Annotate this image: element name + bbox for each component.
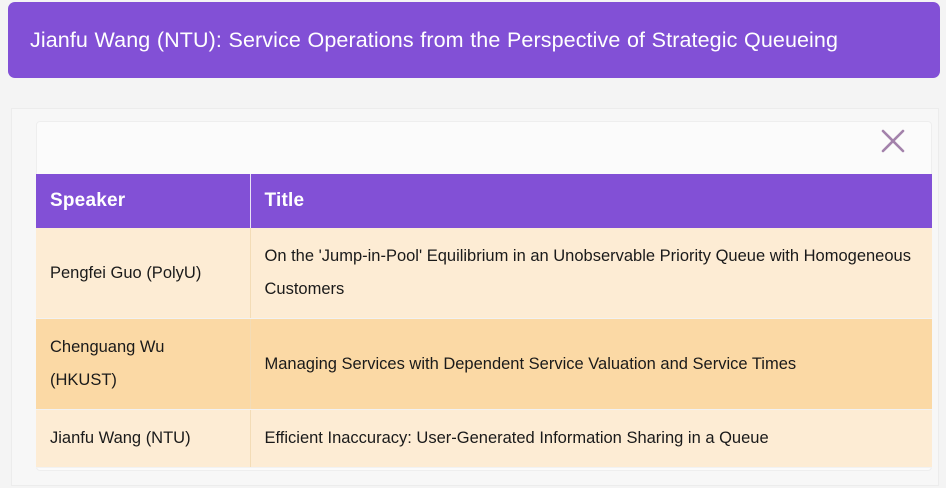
cell-speaker: Pengfei Guo (PolyU)	[36, 228, 250, 319]
cell-title: On the 'Jump-in-Pool' Equilibrium in an …	[250, 228, 932, 319]
table-row: Chenguang Wu (HKUST) Managing Services w…	[36, 319, 932, 410]
close-icon[interactable]	[876, 124, 910, 158]
cell-speaker: Jianfu Wang (NTU)	[36, 410, 250, 468]
table-header-row: Speaker Title	[36, 174, 932, 228]
table-body: Pengfei Guo (PolyU) On the 'Jump-in-Pool…	[36, 228, 932, 468]
table-row: Jianfu Wang (NTU) Efficient Inaccuracy: …	[36, 410, 932, 468]
schedule-table: Speaker Title Pengfei Guo (PolyU) On the…	[36, 174, 932, 468]
cell-title: Efficient Inaccuracy: User-Generated Inf…	[250, 410, 932, 468]
cell-speaker: Chenguang Wu (HKUST)	[36, 319, 250, 410]
column-header-speaker[interactable]: Speaker	[36, 174, 250, 228]
schedule-table-wrapper: Speaker Title Pengfei Guo (PolyU) On the…	[36, 174, 932, 468]
table-head: Speaker Title	[36, 174, 932, 228]
table-row: Pengfei Guo (PolyU) On the 'Jump-in-Pool…	[36, 228, 932, 319]
session-title: Jianfu Wang (NTU): Service Operations fr…	[30, 24, 838, 56]
session-banner: Jianfu Wang (NTU): Service Operations fr…	[8, 2, 940, 78]
cell-title: Managing Services with Dependent Service…	[250, 319, 932, 410]
column-header-title[interactable]: Title	[250, 174, 932, 228]
close-icon-glyph	[880, 128, 906, 154]
page-root: Jianfu Wang (NTU): Service Operations fr…	[0, 0, 946, 488]
